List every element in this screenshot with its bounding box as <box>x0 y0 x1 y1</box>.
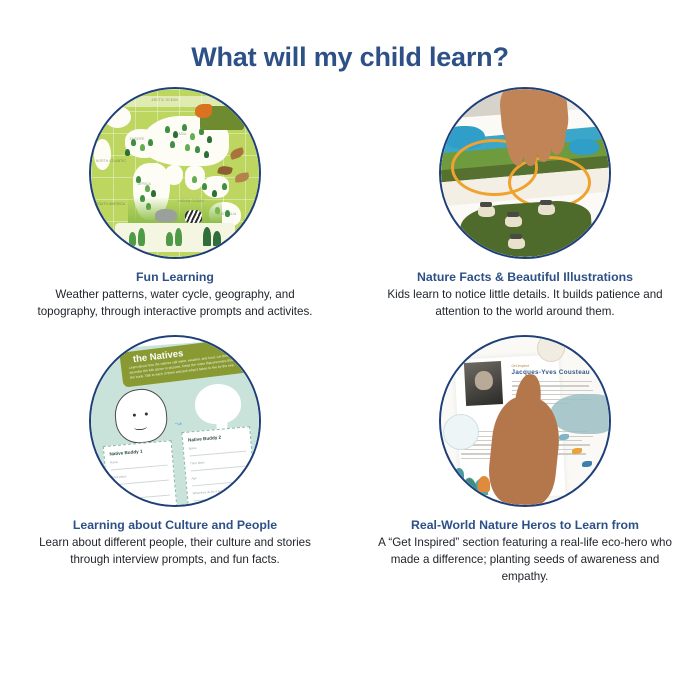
water-shape <box>569 139 599 154</box>
feature-heading: Real-World Nature Heros to Learn from <box>375 518 675 533</box>
field-line <box>114 494 171 500</box>
sheep-icon <box>505 215 522 227</box>
sheep-icon <box>538 203 555 215</box>
conifer-icon <box>213 231 221 246</box>
coral-illustration <box>454 468 464 481</box>
map-tree-icon <box>192 176 197 183</box>
landmass-north-america <box>94 139 111 169</box>
map-tree-icon <box>185 144 190 151</box>
photo-hand-on-illustrated-book <box>441 89 609 257</box>
sticker-badge <box>537 337 565 362</box>
legend-group-conifer <box>203 229 221 246</box>
mouth-icon <box>133 424 146 431</box>
field-line <box>193 496 250 502</box>
map-tree-icon <box>145 185 150 192</box>
map-tree-icon <box>204 151 209 158</box>
feature-body: Kids learn to notice little details. It … <box>375 287 675 321</box>
field-label: What they do for a living <box>193 487 250 496</box>
fish-icon <box>572 448 582 454</box>
tree-icon <box>138 228 145 246</box>
feature-card-nature-facts: Nature Facts & Beautiful Illustrations K… <box>350 87 700 321</box>
learning-features-page: What will my child learn? <box>0 0 700 700</box>
map-tree-icon <box>222 183 227 190</box>
tree-icon <box>175 228 182 246</box>
legend-group-shrub <box>129 229 145 246</box>
card-title: Native Buddy 1 <box>109 446 166 456</box>
worksheet-card-buddy-1[interactable]: Native Buddy 1 Name Their place Age What… <box>103 440 178 505</box>
feature-heading: Fun Learning <box>25 270 325 285</box>
fish-icon <box>582 461 592 467</box>
feature-body: Weather patterns, water cycle, geography… <box>25 287 325 321</box>
page-title: What will my child learn? <box>0 0 700 73</box>
field-label: Their place <box>190 457 247 466</box>
feature-caption-fun-learning: Fun Learning Weather patterns, water cyc… <box>25 270 325 321</box>
field-line <box>191 466 248 472</box>
eye-icon <box>132 414 135 417</box>
map-label-asia: ASIA <box>178 133 186 137</box>
map-label-south-america: SOUTH AMERICA <box>96 203 125 207</box>
field-label: Age <box>191 472 248 481</box>
legend-group-broadleaf <box>166 229 182 246</box>
elephant-icon <box>155 209 177 222</box>
field-label: Fun fact <box>194 502 251 505</box>
map-tree-icon <box>202 183 207 190</box>
landmass-greenland <box>104 106 131 128</box>
feature-caption-nature-heros: Real-World Nature Heros to Learn from A … <box>375 518 675 586</box>
field-line <box>189 451 246 457</box>
page-hero-name: Jacques-Yves Cousteau <box>512 369 590 376</box>
field-label: Age <box>113 485 170 494</box>
field-label: Name <box>110 455 167 464</box>
toucan-icon <box>195 104 212 118</box>
field-line <box>192 481 249 487</box>
map-tree-icon <box>182 124 187 131</box>
sheep-icon <box>508 237 525 249</box>
feature-caption-culture-people: Learning about Culture and People Learn … <box>25 518 325 569</box>
sheep-icon <box>478 205 495 217</box>
features-grid: ARCTIC OCEAN ASIA EUROPE AFRICA INDIAN O… <box>0 87 700 586</box>
feature-card-nature-heros: Get Inspired Jacques-Yves Cousteau <box>350 335 700 586</box>
feature-card-culture-people: the Natives Learn about how the natives … <box>0 335 350 586</box>
map-tree-icon <box>165 126 170 133</box>
feature-image-fun-learning[interactable]: ARCTIC OCEAN ASIA EUROPE AFRICA INDIAN O… <box>89 87 261 259</box>
sticker-badge <box>443 414 479 450</box>
field-line <box>112 479 169 485</box>
feature-image-culture-people[interactable]: the Natives Learn about how the natives … <box>89 335 261 507</box>
tree-icon <box>166 232 173 246</box>
worksheet-page: the Natives Learn about how the natives … <box>91 337 259 505</box>
map-tree-icon <box>190 133 195 140</box>
map-label-north-atlantic: NORTH ATLANTIC <box>96 160 126 164</box>
map-tree-icon <box>207 136 212 143</box>
map-tree-icon <box>148 139 153 146</box>
scribble-mark: ↝ <box>175 419 182 428</box>
whale-illustration <box>550 394 609 434</box>
map-tree-icon <box>140 144 145 151</box>
feature-image-nature-heros[interactable]: Get Inspired Jacques-Yves Cousteau <box>439 335 611 507</box>
worksheet-card-buddy-2[interactable]: Native Buddy 2 Name Their place Age What… <box>181 427 257 505</box>
map-tree-icon <box>125 149 130 156</box>
coral-illustration <box>478 476 490 492</box>
map-tree-icon <box>170 141 175 148</box>
feature-heading: Nature Facts & Beautiful Illustrations <box>375 270 675 285</box>
feature-body: Learn about different people, their cult… <box>25 535 325 569</box>
world-map-illustration: ARCTIC OCEAN ASIA EUROPE AFRICA INDIAN O… <box>91 89 259 257</box>
feature-image-nature-facts[interactable] <box>439 87 611 259</box>
map-tree-icon <box>225 210 230 217</box>
conifer-icon <box>203 227 211 246</box>
field-line <box>111 464 168 470</box>
photo-hand-on-cousteau-page: Get Inspired Jacques-Yves Cousteau <box>441 337 609 505</box>
cousteau-portrait-photo <box>463 361 502 406</box>
feature-card-fun-learning: ARCTIC OCEAN ASIA EUROPE AFRICA INDIAN O… <box>0 87 350 321</box>
page-kicker: Get Inspired <box>512 364 529 368</box>
map-legend <box>115 223 236 252</box>
eye-icon <box>144 413 147 416</box>
map-label-arctic: ARCTIC OCEAN <box>151 99 178 103</box>
feature-caption-nature-facts: Nature Facts & Beautiful Illustrations K… <box>375 270 675 321</box>
feature-body: A “Get Inspired” section featuring a rea… <box>375 535 675 585</box>
field-label: Name <box>189 442 246 451</box>
zebra-icon <box>185 210 202 223</box>
feature-heading: Learning about Culture and People <box>25 518 325 533</box>
map-tree-icon <box>173 131 178 138</box>
tree-icon <box>129 232 136 246</box>
field-label: Their place <box>111 470 168 479</box>
map-tree-icon <box>195 146 200 153</box>
landmass-arabia <box>165 165 183 185</box>
field-label: What they do for a living <box>114 500 171 505</box>
